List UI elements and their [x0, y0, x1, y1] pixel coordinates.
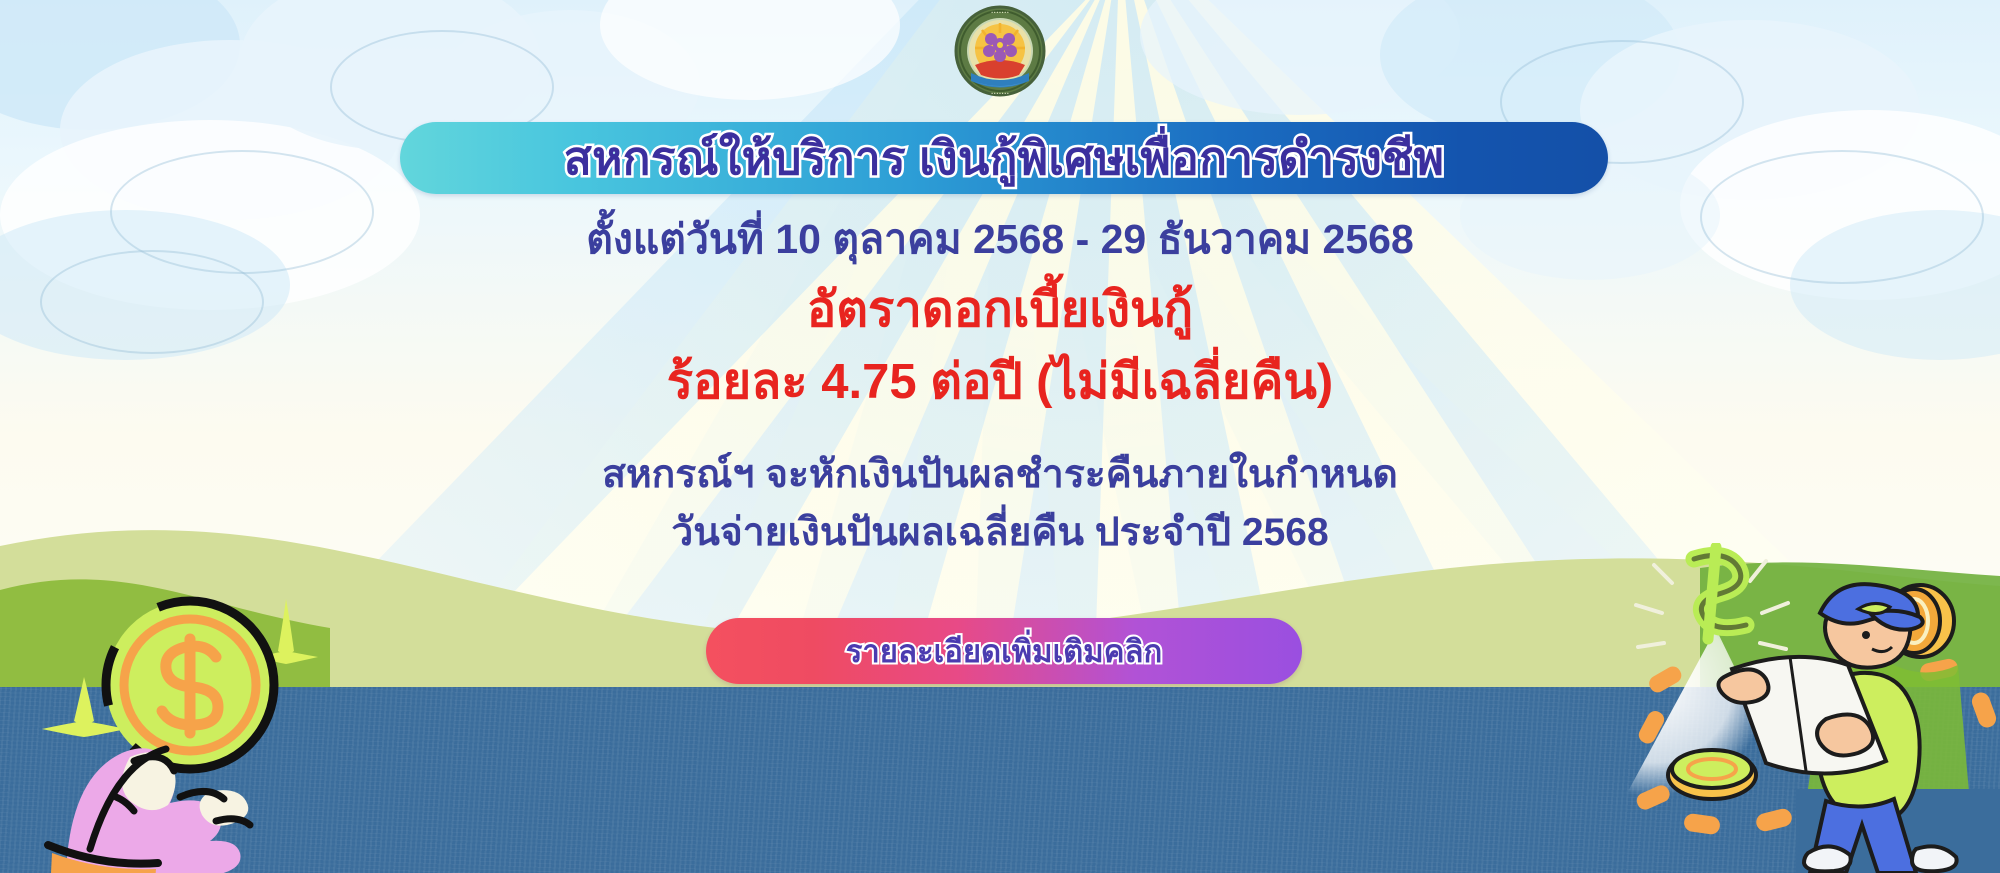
interest-rate-heading: อัตราดอกเบี้ยเงินกู้	[0, 285, 2000, 336]
coin-icon	[1668, 750, 1756, 799]
note-line-1: สหกรณ์ฯ จะหักเงินปันผลชำระคืนภายในกำหนด	[0, 455, 2000, 496]
svg-text:• • • • • • •: • • • • • • •	[991, 91, 1009, 96]
more-details-button[interactable]: รายละเอียดเพิ่มเติมคลิก	[706, 618, 1302, 684]
promotional-banner: • • • • • • • • • • • • • • สหกรณ์ให้บริ…	[0, 0, 2000, 873]
person-reading-document-with-coins-illustration	[1620, 543, 2000, 873]
svg-text:• • • • • • •: • • • • • • •	[991, 10, 1009, 15]
cooperative-emblem-icon: • • • • • • • • • • • • • •	[935, 3, 1065, 101]
dollar-sign-icon	[1694, 547, 1746, 639]
title-banner-bar: สหกรณ์ให้บริการ เงินกู้พิเศษเพื่อการดำรง…	[400, 122, 1608, 194]
page-title: สหกรณ์ให้บริการ เงินกู้พิเศษเพื่อการดำรง…	[564, 135, 1445, 181]
interest-rate-value: ร้อยละ 4.75 ต่อปี (ไม่มีเฉลี่ยคืน)	[0, 357, 2000, 408]
hand-holding-dollar-coin-illustration	[30, 553, 350, 873]
more-details-button-label: รายละเอียดเพิ่มเติมคลิก	[846, 626, 1163, 676]
date-range-text: ตั้งแต่วันที่ 10 ตุลาคม 2568 - 29 ธันวาค…	[0, 218, 2000, 261]
cloud-outline	[1700, 150, 1984, 284]
